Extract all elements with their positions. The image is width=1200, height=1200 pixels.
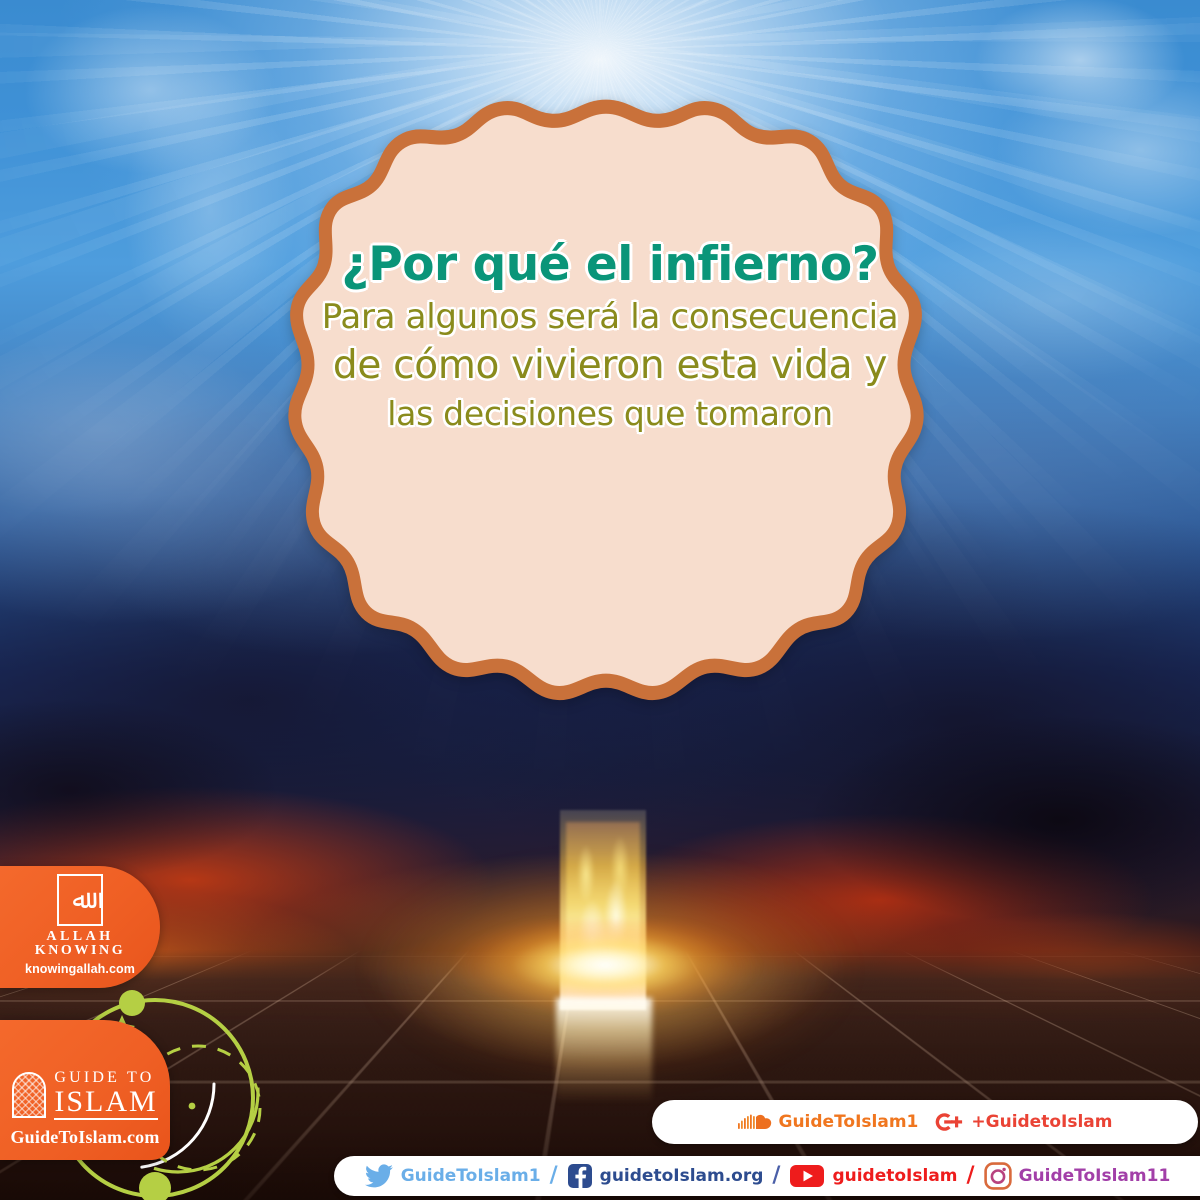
social-bar-top: GuideToIslam1 +GuidetoIslam (652, 1100, 1198, 1144)
separator-2: / (772, 1165, 780, 1187)
poster-canvas: ¿Por qué el infierno? Para algunos será … (0, 0, 1200, 1200)
badge-text-block: ¿Por qué el infierno? Para algunos será … (300, 240, 920, 437)
knowing-allah-logo[interactable]: ﷲ ALLAH KNOWING knowingallah.com (0, 866, 160, 988)
guide-to-islam-logo[interactable]: GUIDE TO ISLAM GuideToIslam.com (0, 1020, 170, 1160)
subtitle-line-2: de cómo vivieron esta vida y (300, 339, 920, 392)
allah-calligraphy-icon: ﷲ (57, 874, 103, 926)
social-link-youtube[interactable]: guidetoIslam (789, 1163, 957, 1189)
youtube-handle: guidetoIslam (832, 1168, 957, 1185)
twitter-icon (364, 1164, 394, 1188)
instagram-icon (984, 1162, 1012, 1190)
social-bar-bottom: GuideToIslam1 / guidetoIslam.org / guide… (334, 1156, 1200, 1196)
social-link-instagram[interactable]: GuideToIslam11 (984, 1162, 1171, 1190)
separator-3: / (967, 1165, 975, 1187)
subtitle-line-1: Para algunos será la consecuencia (300, 295, 920, 339)
separator-1: / (550, 1165, 558, 1187)
googleplus-icon (934, 1110, 964, 1134)
soundcloud-handle: GuideToIslam1 (779, 1114, 919, 1131)
guide-to-islam-line-2: ISLAM (54, 1086, 157, 1121)
subtitle-line-3: las decisiones que tomaron (300, 392, 920, 437)
knowing-allah-url[interactable]: knowingallah.com (25, 962, 135, 976)
social-link-googleplus[interactable]: +GuidetoIslam (934, 1110, 1112, 1134)
page-title: ¿Por qué el infierno? (300, 240, 920, 291)
knowing-allah-line-2: KNOWING (35, 943, 126, 959)
guide-to-islam-lockup: GUIDE TO ISLAM (12, 1070, 157, 1121)
mosque-arch-icon (12, 1072, 46, 1118)
doorway-reflection (556, 998, 652, 1103)
guide-to-islam-line-1: GUIDE TO (54, 1070, 154, 1086)
instagram-handle: GuideToIslam11 (1019, 1168, 1171, 1185)
fire-doorway (0, 800, 1200, 1070)
twitter-handle: GuideToIslam1 (401, 1168, 541, 1185)
guide-to-islam-url[interactable]: GuideToIslam.com (10, 1127, 159, 1148)
guide-to-islam-wordmark: GUIDE TO ISLAM (54, 1070, 157, 1121)
social-link-soundcloud[interactable]: GuideToIslam1 (738, 1112, 919, 1132)
social-link-twitter[interactable]: GuideToIslam1 (364, 1164, 541, 1188)
facebook-icon (567, 1163, 593, 1189)
facebook-handle: guidetoIslam.org (600, 1168, 764, 1185)
googleplus-handle: +GuidetoIslam (971, 1114, 1112, 1131)
youtube-icon (789, 1163, 825, 1189)
social-link-facebook[interactable]: guidetoIslam.org (567, 1163, 764, 1189)
soundcloud-icon (738, 1112, 772, 1132)
